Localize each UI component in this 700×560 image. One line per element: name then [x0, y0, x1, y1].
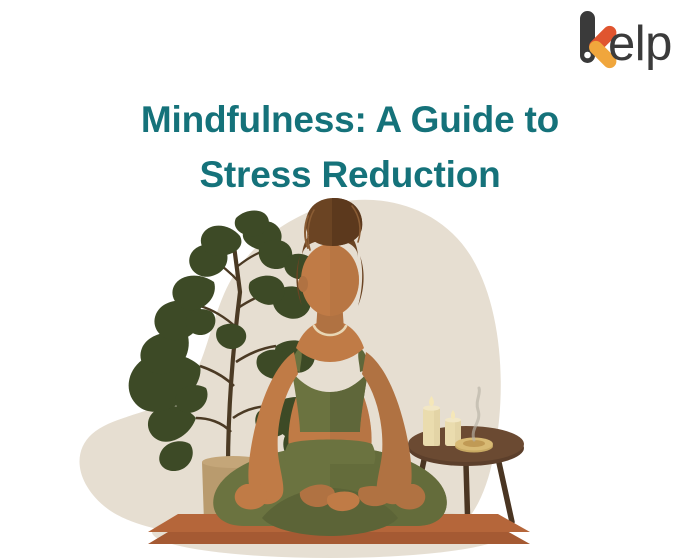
kelp-logo[interactable]: elp — [572, 6, 692, 80]
page-title-line-2: Stress Reduction — [0, 147, 700, 202]
page-title: Mindfulness: A Guide to Stress Reduction — [0, 92, 700, 202]
table-leg-right — [498, 458, 512, 522]
logo-k-dot — [584, 52, 591, 59]
meditation-illustration — [0, 196, 700, 560]
poster-canvas: elp Mindfulness: A Guide to Stress Reduc… — [0, 0, 700, 560]
woman-leggings-waist — [285, 440, 376, 465]
meditation-illustration-svg — [0, 196, 700, 560]
page-title-line-1: Mindfulness: A Guide to — [0, 92, 700, 147]
woman-ear — [298, 276, 308, 292]
brand-wordmark: elp — [608, 20, 672, 69]
